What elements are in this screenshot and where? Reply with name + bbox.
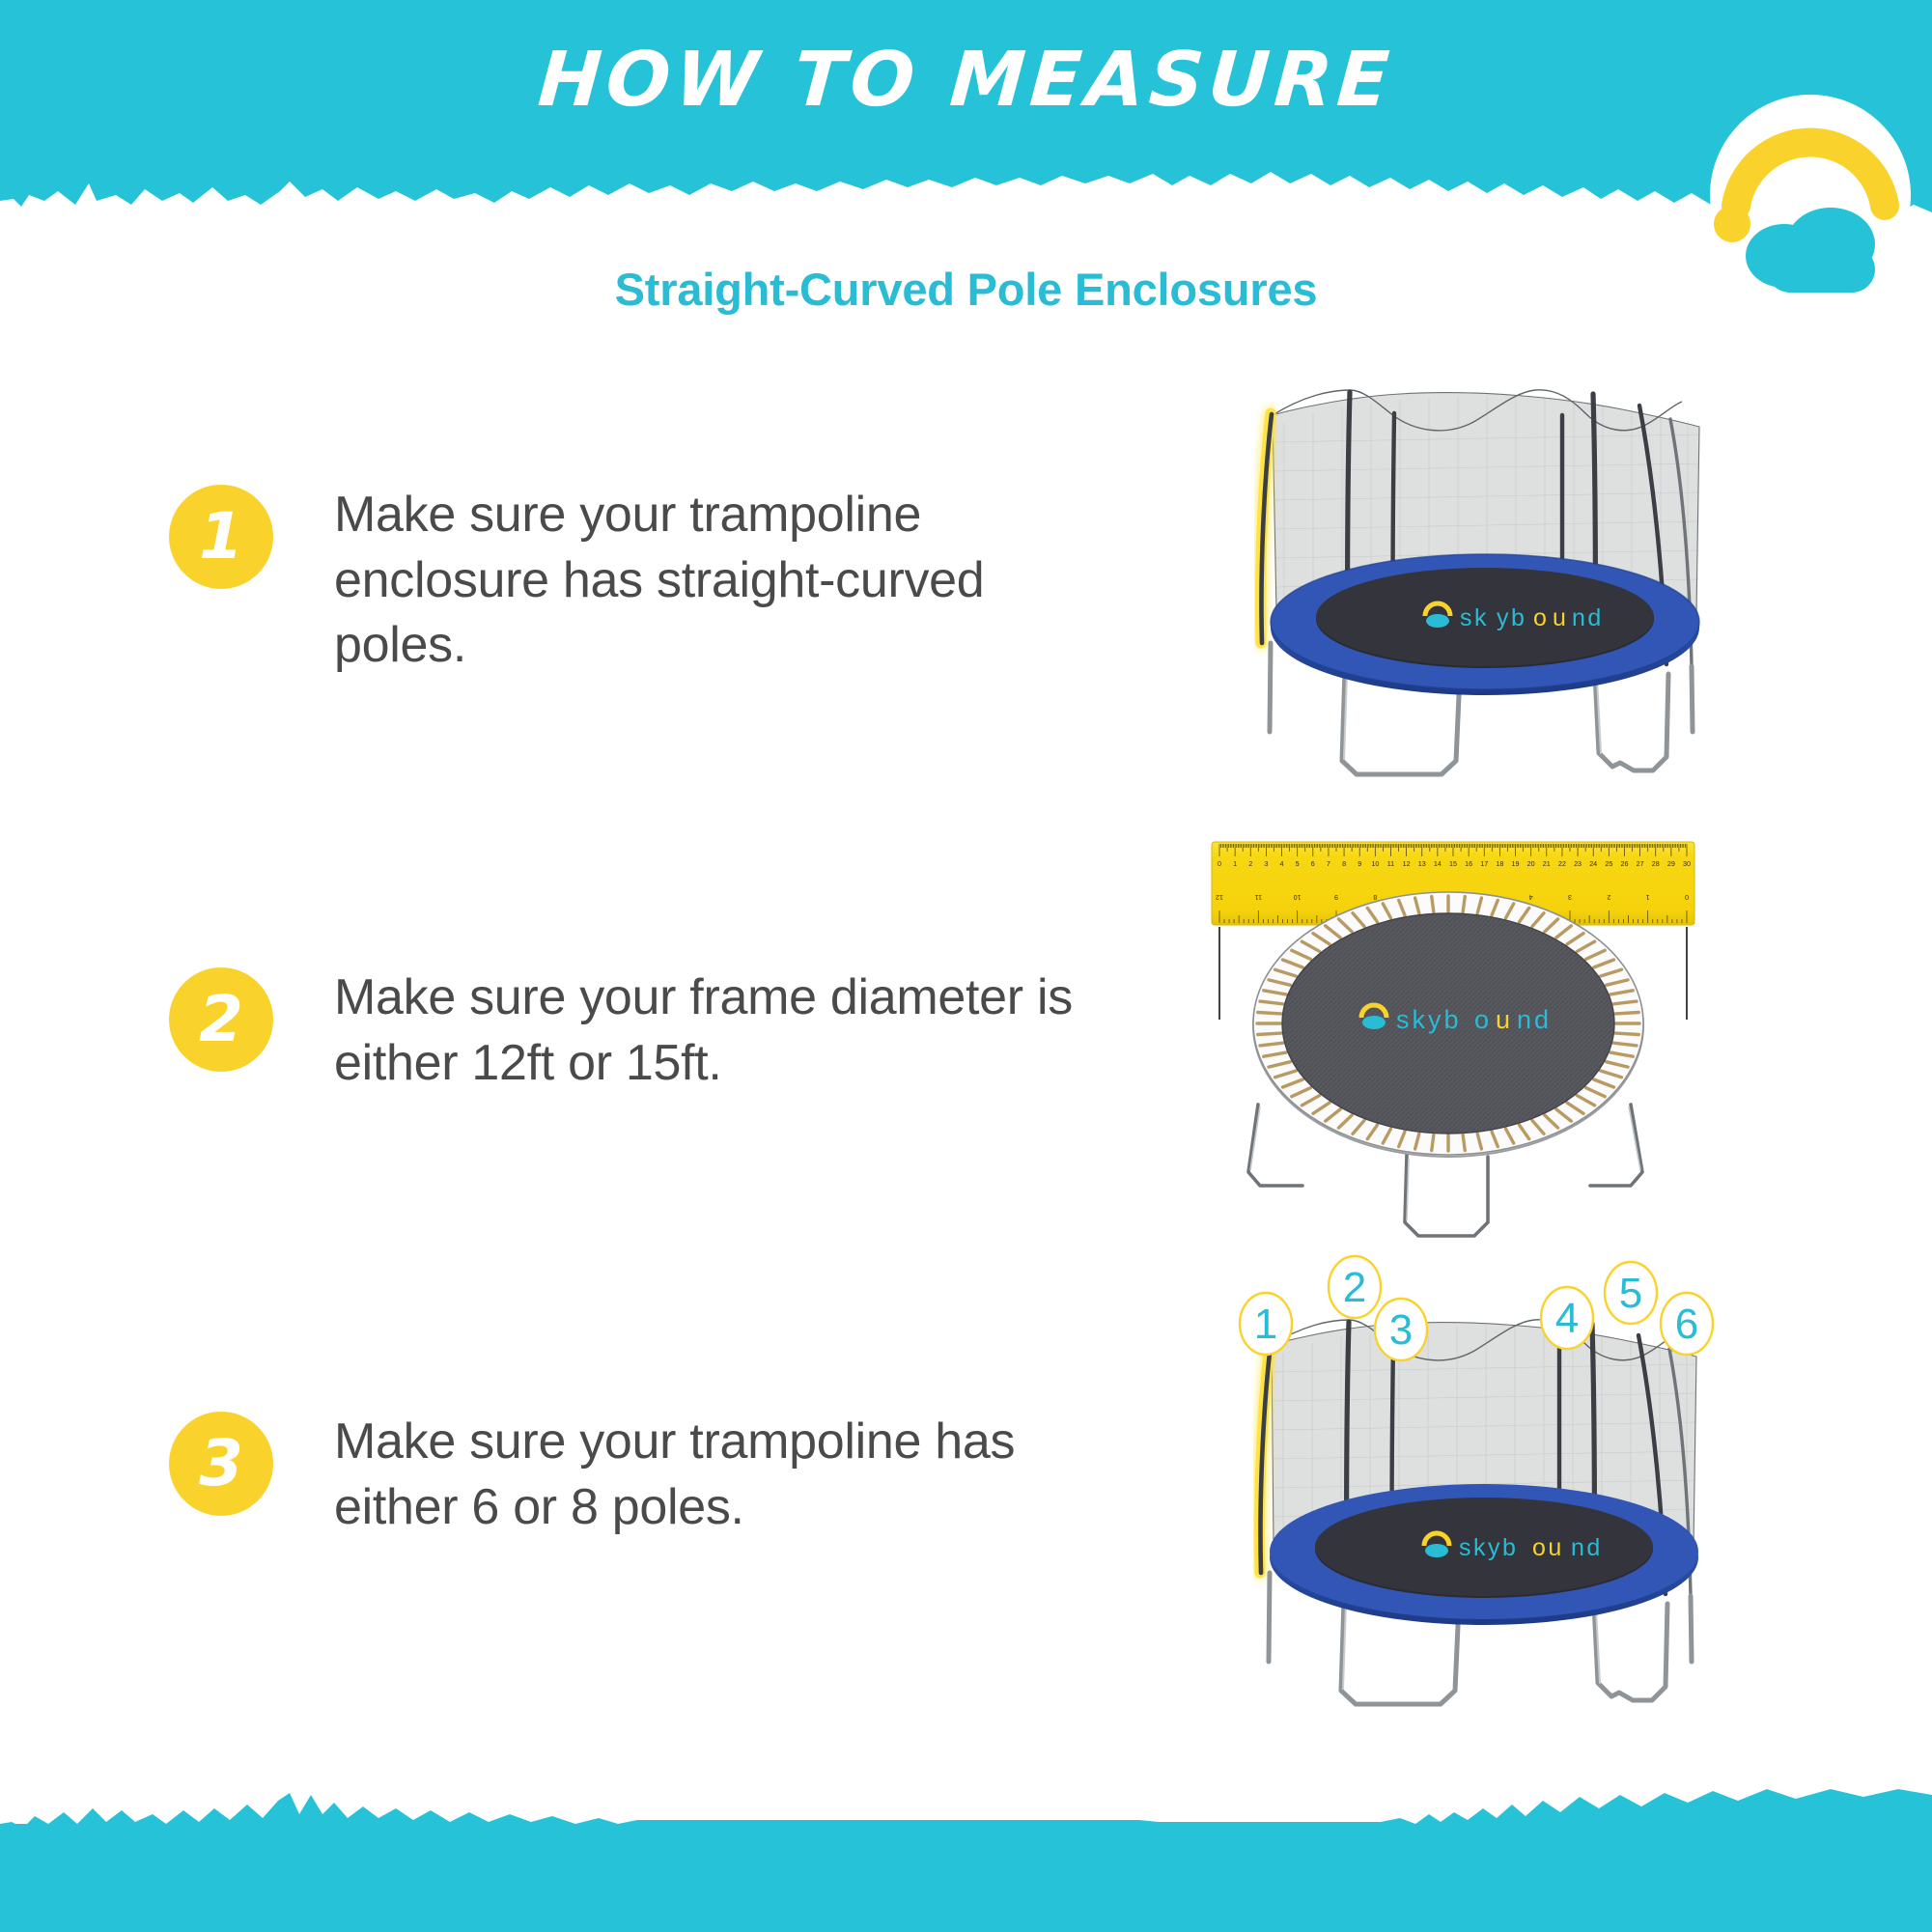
svg-text:27: 27 xyxy=(1637,859,1644,868)
svg-text:u: u xyxy=(1553,604,1568,631)
svg-text:17: 17 xyxy=(1480,859,1488,868)
step-number-badge-1: 1 xyxy=(169,485,273,589)
svg-text:9: 9 xyxy=(1334,893,1338,902)
page-title: HOW TO MEASURE xyxy=(0,37,1932,124)
svg-text:16: 16 xyxy=(1465,859,1472,868)
svg-text:4: 4 xyxy=(1529,893,1533,902)
svg-text:u: u xyxy=(1496,1005,1513,1034)
pole-marker-3: 3 xyxy=(1375,1299,1427,1360)
svg-text:yb: yb xyxy=(1497,604,1526,631)
svg-text:11: 11 xyxy=(1387,859,1394,868)
svg-text:12: 12 xyxy=(1216,893,1223,902)
svg-text:8: 8 xyxy=(1342,859,1346,868)
pole-marker-2: 2 xyxy=(1329,1256,1381,1318)
pole-marker-1: 1 xyxy=(1240,1293,1292,1355)
svg-text:23: 23 xyxy=(1574,859,1582,868)
svg-text:14: 14 xyxy=(1434,859,1442,868)
svg-text:2: 2 xyxy=(1343,1264,1366,1311)
svg-text:nd: nd xyxy=(1572,604,1604,631)
illustration-frame-diameter-measure: 0123456789101112131415161718192021222324… xyxy=(1202,836,1932,1261)
svg-text:10: 10 xyxy=(1294,893,1302,902)
svg-text:21: 21 xyxy=(1543,859,1551,868)
svg-text:13: 13 xyxy=(1418,859,1426,868)
svg-text:1: 1 xyxy=(1646,893,1650,902)
subtitle: Straight-Curved Pole Enclosures xyxy=(0,263,1932,316)
svg-text:5: 5 xyxy=(1296,859,1300,868)
how-to-measure-infographic: HOW TO MEASURE Straight-Curved Pole Encl… xyxy=(0,0,1932,1932)
svg-text:3: 3 xyxy=(1264,859,1268,868)
step-item-1: 1 Make sure your trampoline enclosure ha… xyxy=(169,483,1086,679)
svg-text:ou: ou xyxy=(1532,1534,1564,1561)
step-item-2: 2 Make sure your frame diameter is eithe… xyxy=(169,966,1086,1096)
svg-text:4: 4 xyxy=(1555,1295,1579,1342)
svg-text:6: 6 xyxy=(1675,1301,1698,1348)
svg-text:10: 10 xyxy=(1371,859,1379,868)
svg-text:0: 0 xyxy=(1218,859,1221,868)
svg-text:18: 18 xyxy=(1496,859,1503,868)
pole-marker-4: 4 xyxy=(1541,1287,1593,1349)
svg-text:nd: nd xyxy=(1517,1005,1552,1034)
svg-text:5: 5 xyxy=(1619,1270,1642,1317)
pole-marker-5: 5 xyxy=(1605,1262,1657,1324)
svg-text:22: 22 xyxy=(1558,859,1566,868)
svg-text:19: 19 xyxy=(1512,859,1520,868)
svg-text:7: 7 xyxy=(1327,859,1330,868)
svg-text:15: 15 xyxy=(1449,859,1457,868)
svg-text:6: 6 xyxy=(1311,859,1315,868)
svg-text:2: 2 xyxy=(1248,859,1252,868)
svg-text:1: 1 xyxy=(1233,859,1237,868)
svg-text:3: 3 xyxy=(1389,1306,1413,1354)
step-text-2: Make sure your frame diameter is either … xyxy=(334,966,1086,1096)
step-number-badge-2: 2 xyxy=(169,967,273,1072)
svg-text:9: 9 xyxy=(1358,859,1361,868)
svg-text:nd: nd xyxy=(1571,1534,1603,1561)
svg-text:11: 11 xyxy=(1255,893,1262,902)
svg-text:28: 28 xyxy=(1652,859,1660,868)
svg-text:2: 2 xyxy=(1607,893,1610,902)
svg-text:8: 8 xyxy=(1373,893,1377,902)
svg-text:o: o xyxy=(1474,1005,1492,1034)
step-item-3: 3 Make sure your trampoline has either 6… xyxy=(169,1410,1086,1540)
svg-text:skyb: skyb xyxy=(1459,1534,1518,1561)
step-number-badge-3: 3 xyxy=(169,1412,273,1516)
svg-text:0: 0 xyxy=(1685,893,1689,902)
skybound-sun-cloud-logo-icon xyxy=(1707,92,1915,299)
svg-text:4: 4 xyxy=(1280,859,1284,868)
step-text-1: Make sure your trampoline enclosure has … xyxy=(334,483,1086,679)
svg-text:1: 1 xyxy=(1254,1301,1277,1348)
svg-text:o: o xyxy=(1533,604,1549,631)
pole-marker-6: 6 xyxy=(1661,1293,1713,1355)
step-text-3: Make sure your trampoline has either 6 o… xyxy=(334,1410,1086,1540)
svg-text:20: 20 xyxy=(1527,859,1535,868)
svg-text:26: 26 xyxy=(1620,859,1628,868)
illustration-trampoline-with-enclosure: sk yb o u nd xyxy=(1217,384,1931,814)
svg-text:3: 3 xyxy=(1568,893,1572,902)
svg-text:29: 29 xyxy=(1667,859,1675,868)
svg-text:sk: sk xyxy=(1460,604,1489,631)
svg-text:skyb: skyb xyxy=(1396,1005,1462,1034)
svg-text:30: 30 xyxy=(1683,859,1691,868)
svg-text:25: 25 xyxy=(1605,859,1612,868)
illustration-trampoline-pole-count: skyb ou nd 123456 xyxy=(1212,1270,1931,1772)
svg-text:24: 24 xyxy=(1589,859,1597,868)
svg-text:12: 12 xyxy=(1403,859,1411,868)
